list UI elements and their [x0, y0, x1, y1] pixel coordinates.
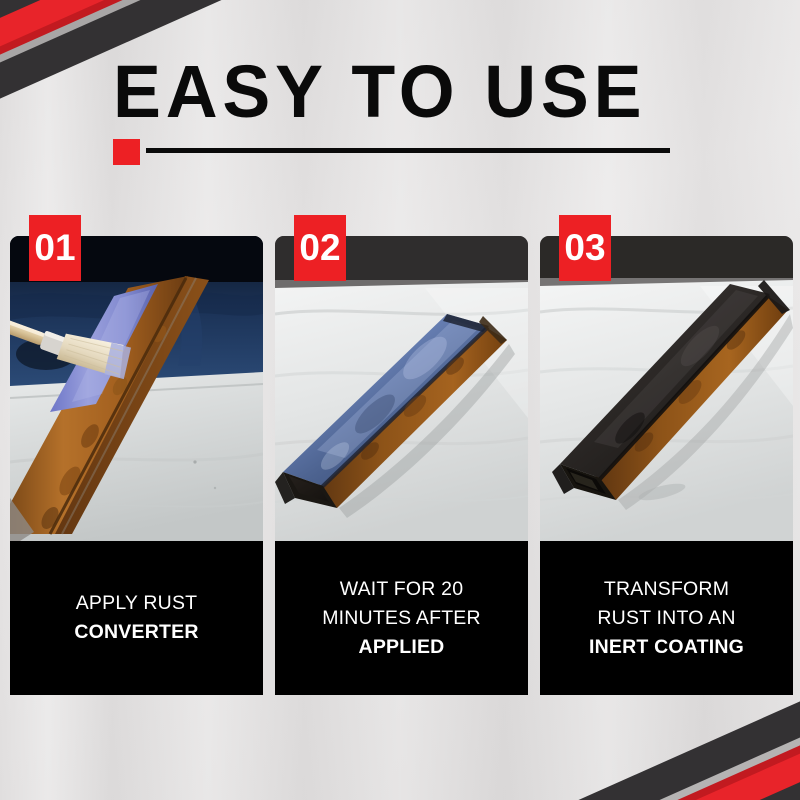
step-card-2: WAIT FOR 20 MINUTES AFTER APPLIED	[275, 236, 528, 695]
caption-line: CONVERTER	[74, 618, 198, 647]
step-badge-1: 01	[29, 215, 81, 281]
step-caption-1: APPLY RUST CONVERTER	[10, 541, 263, 695]
step-caption-2: WAIT FOR 20 MINUTES AFTER APPLIED	[275, 541, 528, 695]
caption-line: TRANSFORM	[604, 575, 729, 604]
step-caption-3: TRANSFORM RUST INTO AN INERT COATING	[540, 541, 793, 695]
caption-line: APPLY RUST	[76, 589, 198, 618]
page-title: EASY TO USE	[113, 55, 646, 129]
step-badge-3: 03	[559, 215, 611, 281]
caption-line: APPLIED	[359, 633, 445, 662]
step-badge-2: 02	[294, 215, 346, 281]
step-card-1: APPLY RUST CONVERTER	[10, 236, 263, 695]
black-inert-coated-tube-photo	[540, 236, 793, 541]
poster-canvas: EASY TO USE	[0, 0, 800, 800]
blue-wet-coated-rusty-tube-photo	[275, 236, 528, 541]
title-underline-rule	[146, 148, 670, 153]
caption-line: WAIT FOR 20	[340, 575, 464, 604]
caption-line: MINUTES AFTER	[322, 604, 481, 633]
title-accent-square	[113, 139, 140, 165]
step-card-3: TRANSFORM RUST INTO AN INERT COATING	[540, 236, 793, 695]
brush-applying-rust-converter-photo	[10, 236, 263, 541]
caption-line: INERT COATING	[589, 633, 744, 662]
caption-line: RUST INTO AN	[597, 604, 735, 633]
